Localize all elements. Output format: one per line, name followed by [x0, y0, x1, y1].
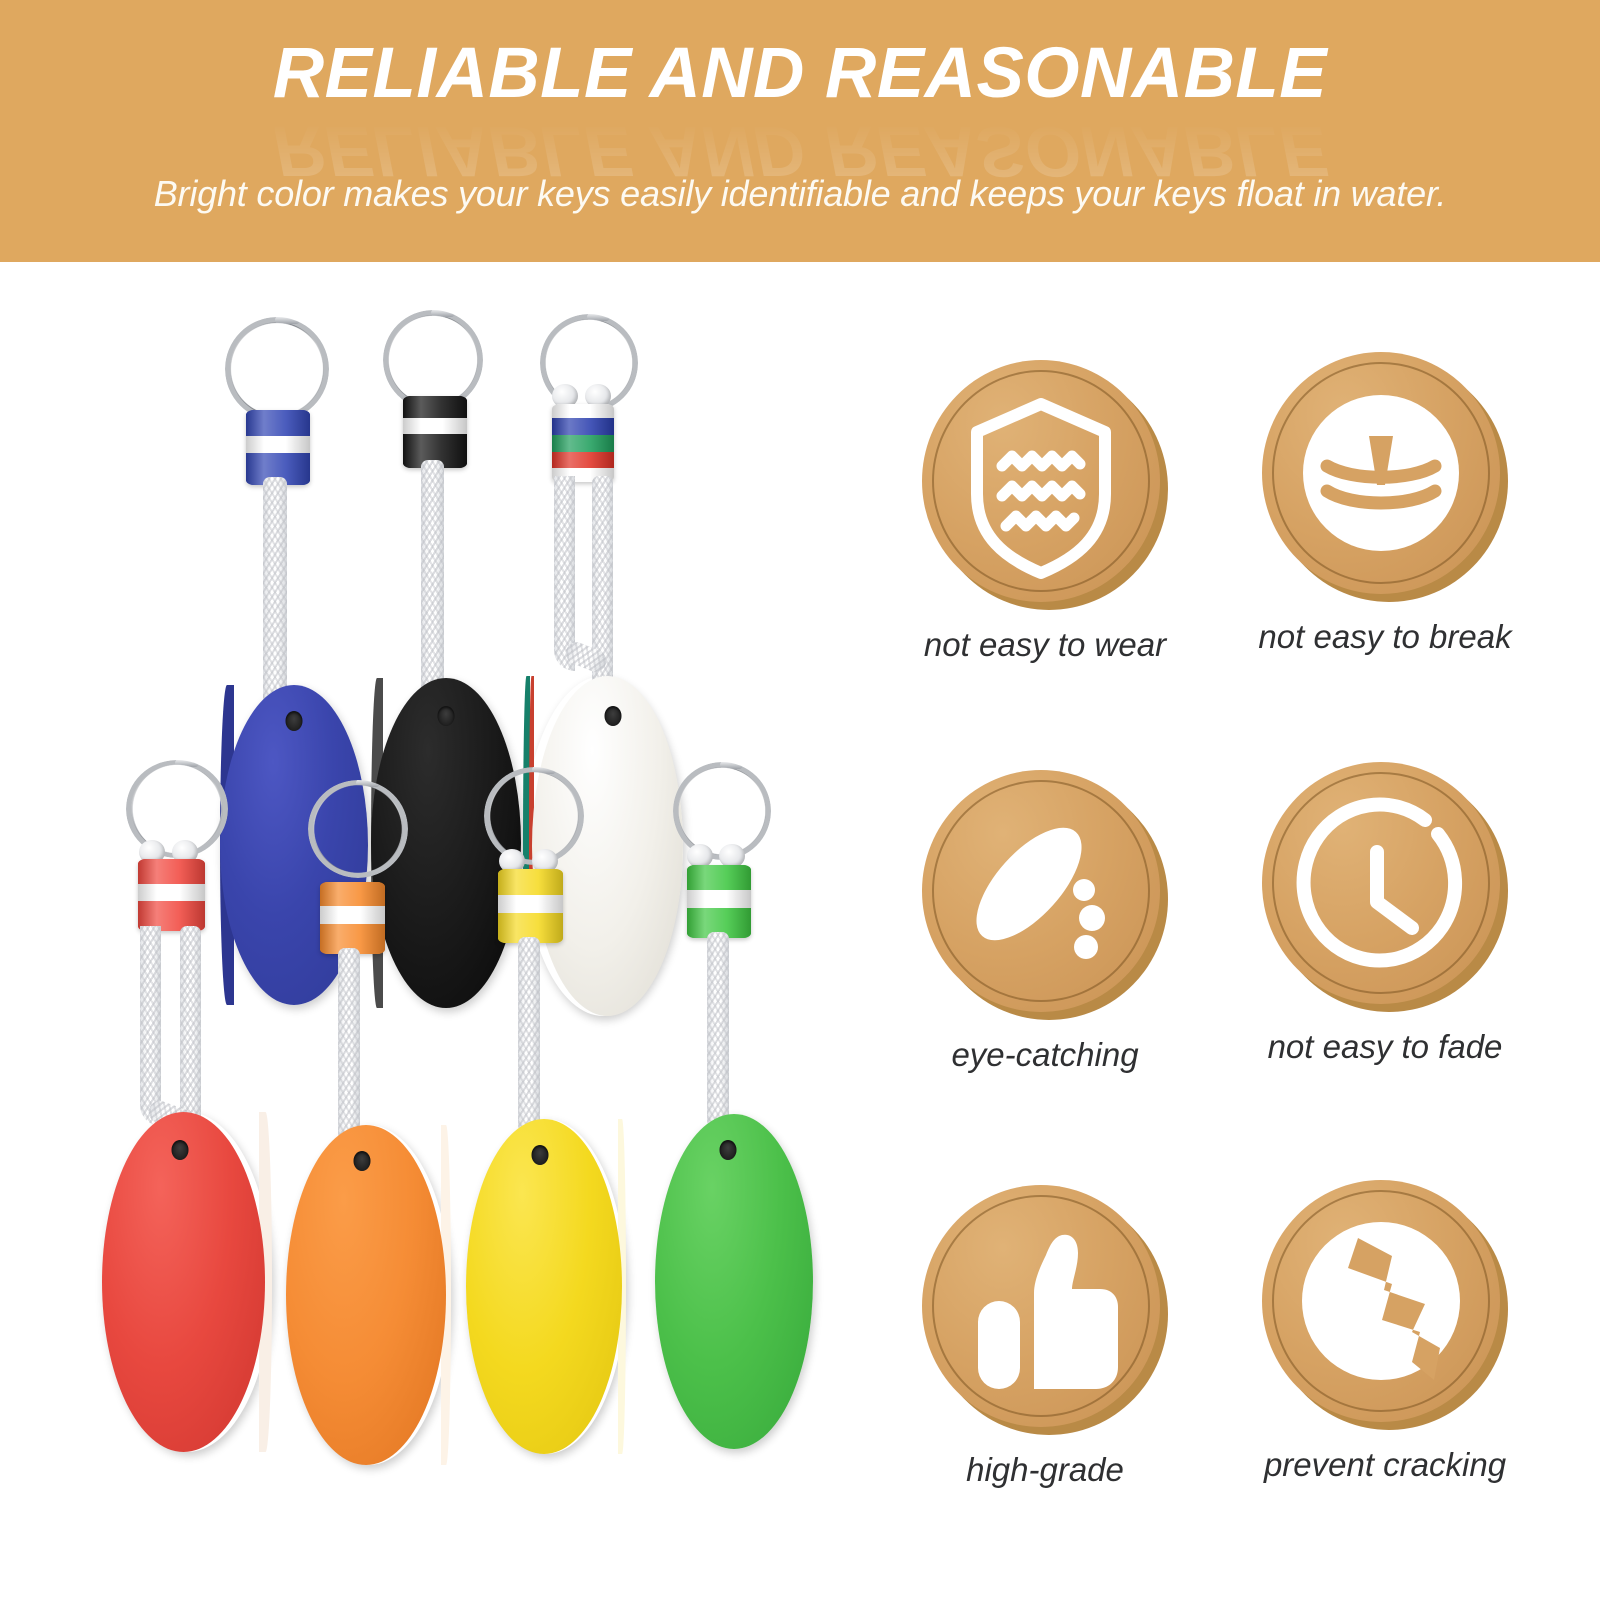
crack-icon — [1262, 1180, 1500, 1422]
feature-label: not easy to break — [1220, 618, 1550, 656]
feature-not-easy-to-fade: not easy to fade — [1220, 762, 1550, 1066]
cord-hole — [531, 1145, 548, 1165]
foam-bead — [320, 882, 385, 954]
oval-tag — [102, 1112, 272, 1452]
split-key-ring — [383, 310, 483, 410]
split-key-ring — [225, 317, 329, 421]
sparkle-shine-icon — [922, 770, 1160, 1012]
feature-prevent-cracking: prevent cracking — [1220, 1180, 1550, 1484]
cord-hole — [719, 1140, 736, 1160]
oval-tag — [286, 1125, 451, 1465]
badge-crack — [1262, 1180, 1508, 1430]
badge-shield-waves — [922, 360, 1168, 610]
foam-bead — [552, 404, 614, 482]
badge-clock — [1262, 762, 1508, 1012]
braided-cord-loop-right — [180, 926, 201, 1136]
oval-tag — [466, 1119, 626, 1454]
thumbs-up-icon — [922, 1185, 1160, 1427]
cord-hole — [286, 711, 303, 731]
braided-cord — [421, 460, 444, 700]
braided-cord — [707, 932, 729, 1127]
foam-bead — [246, 410, 310, 485]
split-key-ring — [673, 762, 771, 860]
page-title: RELIABLE AND REASONABLE — [0, 38, 1600, 109]
feature-not-easy-to-break: not easy to break — [1220, 352, 1550, 656]
feature-not-easy-to-wear: not easy to wear — [880, 360, 1210, 664]
split-key-ring — [484, 767, 584, 865]
product-showcase — [0, 262, 880, 1600]
foam-bead — [687, 865, 751, 938]
foam-bead — [403, 396, 467, 468]
braided-cord — [338, 948, 360, 1143]
foam-bead — [498, 869, 563, 943]
shield-waves-icon — [922, 360, 1160, 602]
clock-icon — [1262, 762, 1500, 1004]
cord-hole — [604, 706, 621, 726]
page-subtitle: Bright color makes your keys easily iden… — [0, 173, 1600, 215]
braided-cord — [518, 937, 540, 1132]
header-banner: RELIABLE AND REASONABLE RELIABLE AND REA… — [0, 0, 1600, 262]
feature-grid: not easy to wear not easy to break — [880, 300, 1600, 1580]
braided-cord-loop-left — [140, 926, 161, 1126]
feature-label: not easy to wear — [880, 626, 1210, 664]
impact-resistance-icon — [1262, 352, 1500, 594]
cord-hole — [353, 1151, 370, 1171]
foam-bead — [138, 859, 205, 931]
feature-high-grade: high-grade — [880, 1185, 1210, 1489]
cord-hole — [438, 706, 455, 726]
badge-thumbs-up — [922, 1185, 1168, 1435]
feature-label: prevent cracking — [1220, 1446, 1550, 1484]
split-key-ring — [308, 780, 408, 878]
feature-label: not easy to fade — [1220, 1028, 1550, 1066]
braided-cord — [263, 477, 287, 707]
oval-tag — [655, 1114, 813, 1449]
feature-label: eye-catching — [880, 1036, 1210, 1074]
cord-hole — [172, 1140, 189, 1160]
feature-label: high-grade — [880, 1451, 1210, 1489]
badge-impact-resistance — [1262, 352, 1508, 602]
badge-sparkle-shine — [922, 770, 1168, 1020]
feature-eye-catching: eye-catching — [880, 770, 1210, 1074]
